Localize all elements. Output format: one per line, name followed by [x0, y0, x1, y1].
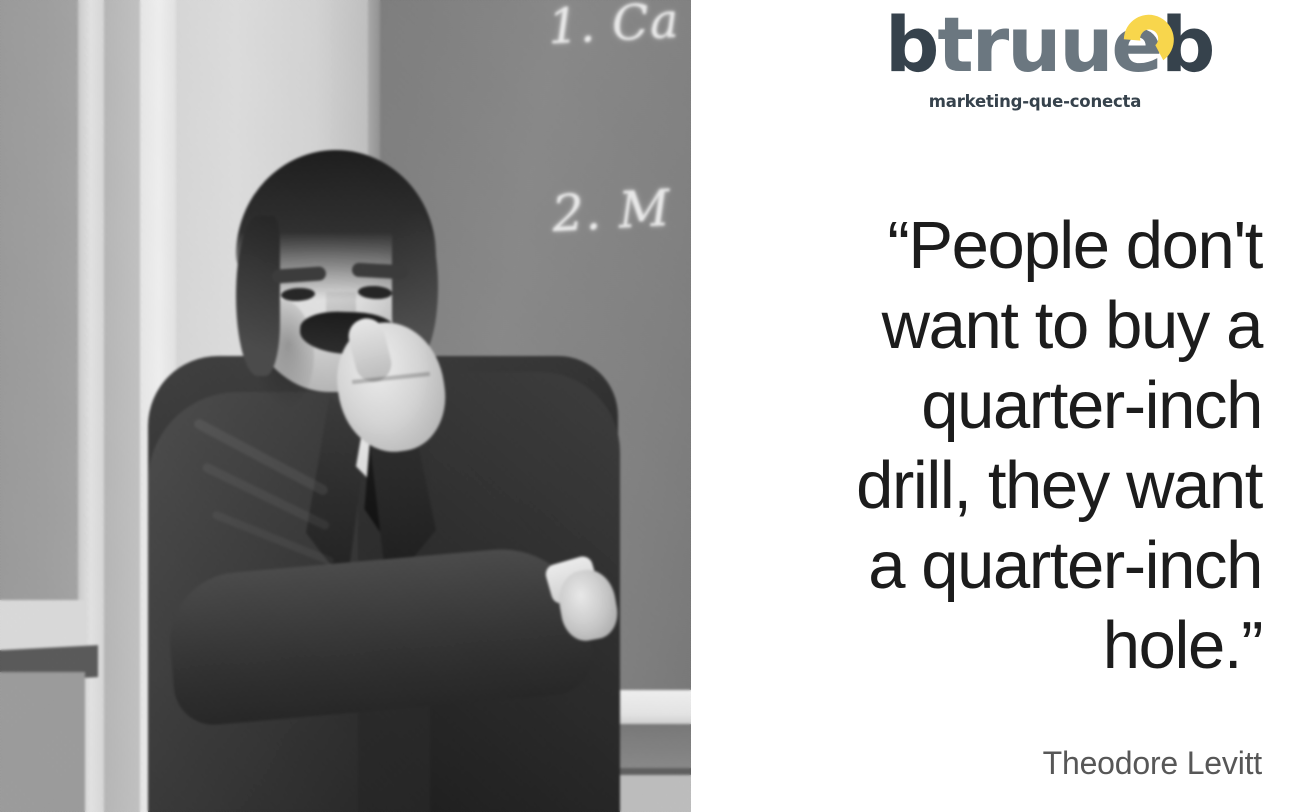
hair-side-left: [236, 216, 280, 376]
quote-card: 1. Ca 2. M: [0, 0, 1292, 812]
logo-tagline: marketing-que-conecta: [885, 92, 1185, 111]
quote-line: hole.”: [731, 606, 1262, 686]
quote-line: quarter-inch: [731, 366, 1262, 446]
quote-attribution: Theodore Levitt: [731, 744, 1262, 782]
yellow-arc-swoosh-icon: [1123, 10, 1181, 68]
quote-text: “People don't want to buy a quarter-inch…: [731, 206, 1262, 686]
speaker-photo: 1. Ca 2. M: [0, 0, 691, 812]
speaker-figure: [0, 0, 691, 812]
quote-line: drill, they want: [731, 446, 1262, 526]
quote-panel: btruueb marketing-que-conecta “People do…: [691, 0, 1292, 812]
quote-line: want to buy a: [731, 286, 1262, 366]
btrueb-logo[interactable]: btruueb marketing-que-conecta: [885, 6, 1185, 116]
logo-letter-b1: b: [885, 0, 937, 89]
quote-line: “People don't: [731, 206, 1262, 286]
eyebrow-right: [352, 263, 409, 280]
quote-line: a quarter-inch: [731, 526, 1262, 606]
logo-letters-tru: tru: [937, 0, 1059, 89]
